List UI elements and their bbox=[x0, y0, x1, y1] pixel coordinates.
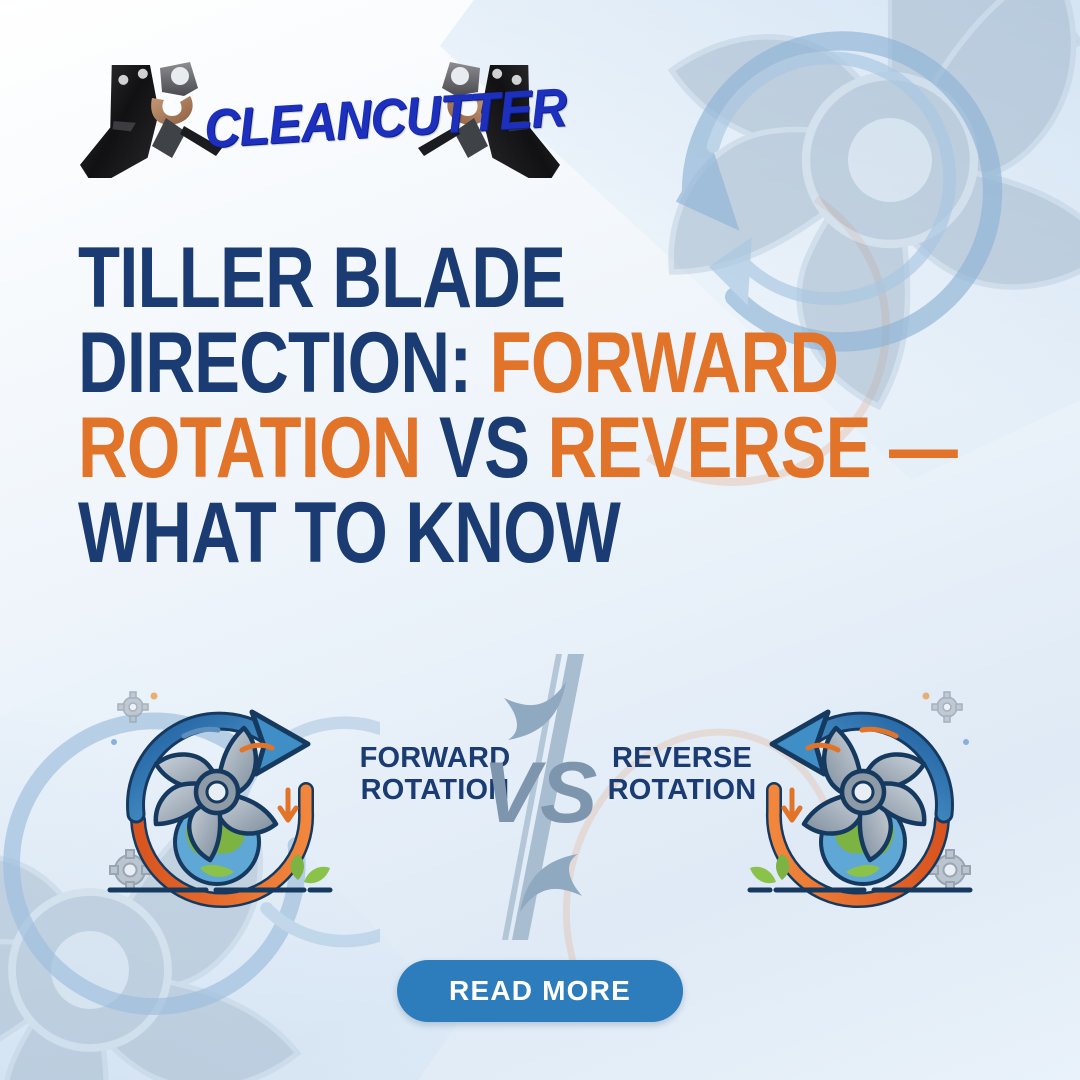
comparison-section: FORWARD ROTATION VS REVERSE ROTATION bbox=[0, 672, 1080, 922]
versus-badge: VS bbox=[482, 654, 606, 940]
headline-line-3: ROTATION VS REVERSE — bbox=[78, 406, 830, 491]
headline-line3-orange-b: REVERSE — bbox=[547, 400, 957, 496]
poster-canvas: CLEANCUTTER TILLER BLADE DIRECTION: FORW… bbox=[0, 0, 1080, 1080]
tiller-rotor-reverse-icon bbox=[738, 672, 988, 922]
headline-line-4: WHAT TO KNOW bbox=[78, 491, 830, 576]
tiller-rotor-forward-icon bbox=[92, 672, 342, 922]
headline-line2-orange: FORWARD bbox=[490, 315, 839, 411]
headline-line2-navy: DIRECTION: bbox=[78, 315, 471, 411]
page-title: TILLER BLADE DIRECTION: FORWARD ROTATION… bbox=[78, 236, 830, 577]
headline-line3-orange-a: ROTATION bbox=[78, 400, 421, 496]
headline-line3-navy: VS bbox=[439, 400, 529, 496]
versus-slash-icon: VS bbox=[482, 654, 606, 940]
versus-text: VS bbox=[483, 745, 598, 841]
headline-line1-text: TILLER BLADE bbox=[78, 230, 565, 326]
read-more-button[interactable]: READ MORE bbox=[397, 960, 683, 1022]
headline-line4-text: WHAT TO KNOW bbox=[78, 485, 620, 581]
headline-line-2: DIRECTION: FORWARD bbox=[78, 321, 830, 406]
headline-line-1: TILLER BLADE bbox=[78, 236, 830, 321]
brand-logo[interactable]: CLEANCUTTER bbox=[40, 48, 600, 178]
